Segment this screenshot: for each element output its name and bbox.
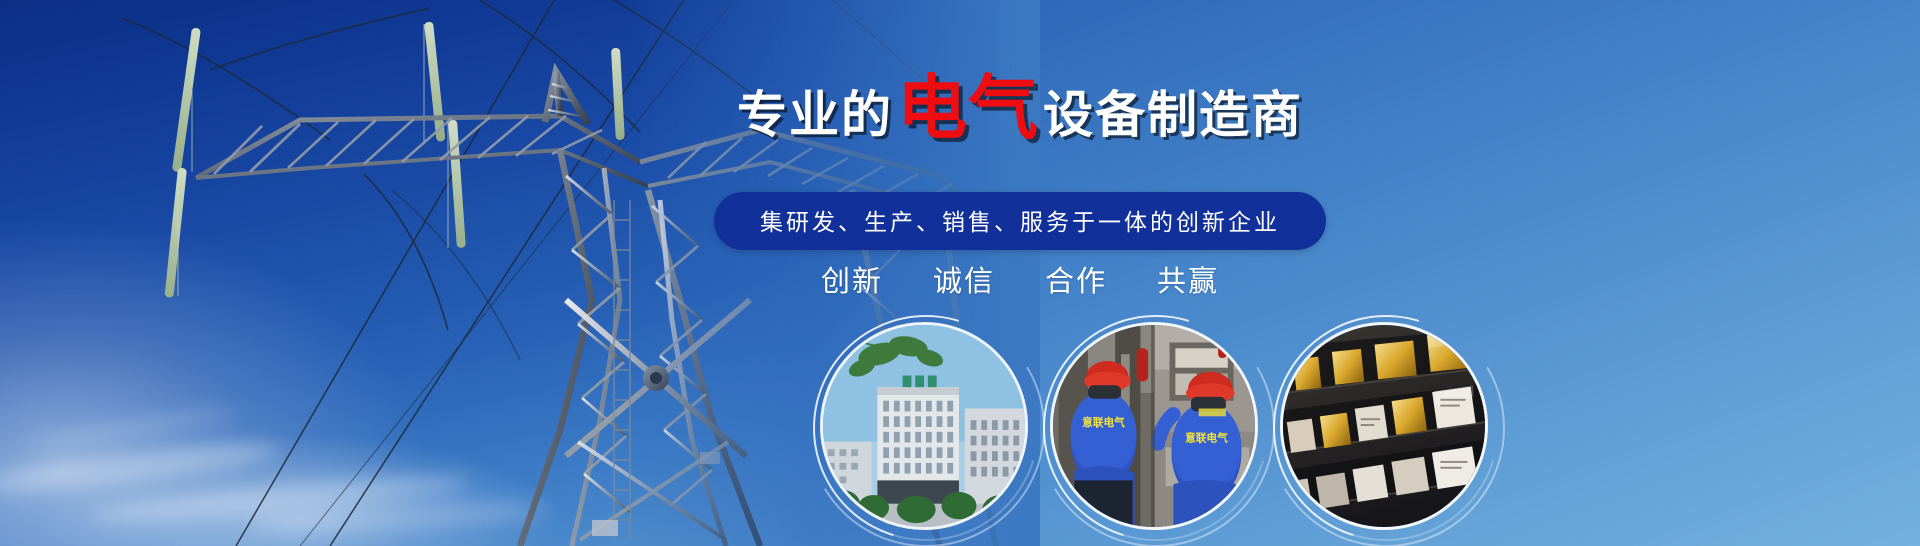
- hero-banner: 专业的电气设备制造商 集研发、生产、销售、服务于一体的创新企业 创新诚信合作共赢: [0, 0, 1920, 546]
- subtitle-pill: 集研发、生产、销售、服务于一体的创新企业: [714, 192, 1326, 250]
- banner-content: 专业的电气设备制造商 集研发、生产、销售、服务于一体的创新企业 创新诚信合作共赢: [0, 0, 1920, 546]
- circle-photo-1[interactable]: [820, 322, 1028, 530]
- headline-part-1: 专业的: [737, 87, 893, 143]
- core-values-row: 创新诚信合作共赢: [796, 258, 1244, 300]
- certificates-wall-photo: [1280, 322, 1488, 530]
- value-item-4: 共赢: [1157, 266, 1219, 298]
- svg-text:意联电气: 意联电气: [1082, 416, 1125, 429]
- circle-photo-3[interactable]: [1280, 322, 1488, 530]
- value-item-2: 诚信: [933, 266, 995, 298]
- office-building-photo: [820, 322, 1028, 530]
- value-item-1: 创新: [821, 266, 883, 298]
- value-item-3: 合作: [1045, 266, 1107, 298]
- svg-text:意联电气: 意联电气: [1185, 432, 1228, 445]
- workers-installing-photo: 意联电气 意联电气: [1050, 322, 1258, 530]
- banner-headline: 专业的电气设备制造商: [737, 73, 1303, 143]
- subtitle-text: 集研发、生产、销售、服务于一体的创新企业: [760, 209, 1280, 235]
- headline-part-2: 设备制造商: [1043, 87, 1303, 143]
- headline-highlight: 电气: [897, 69, 1039, 147]
- circle-photo-2[interactable]: 意联电气 意联电气: [1050, 322, 1258, 530]
- photo-circles: 意联电气 意联电气: [820, 322, 1560, 546]
